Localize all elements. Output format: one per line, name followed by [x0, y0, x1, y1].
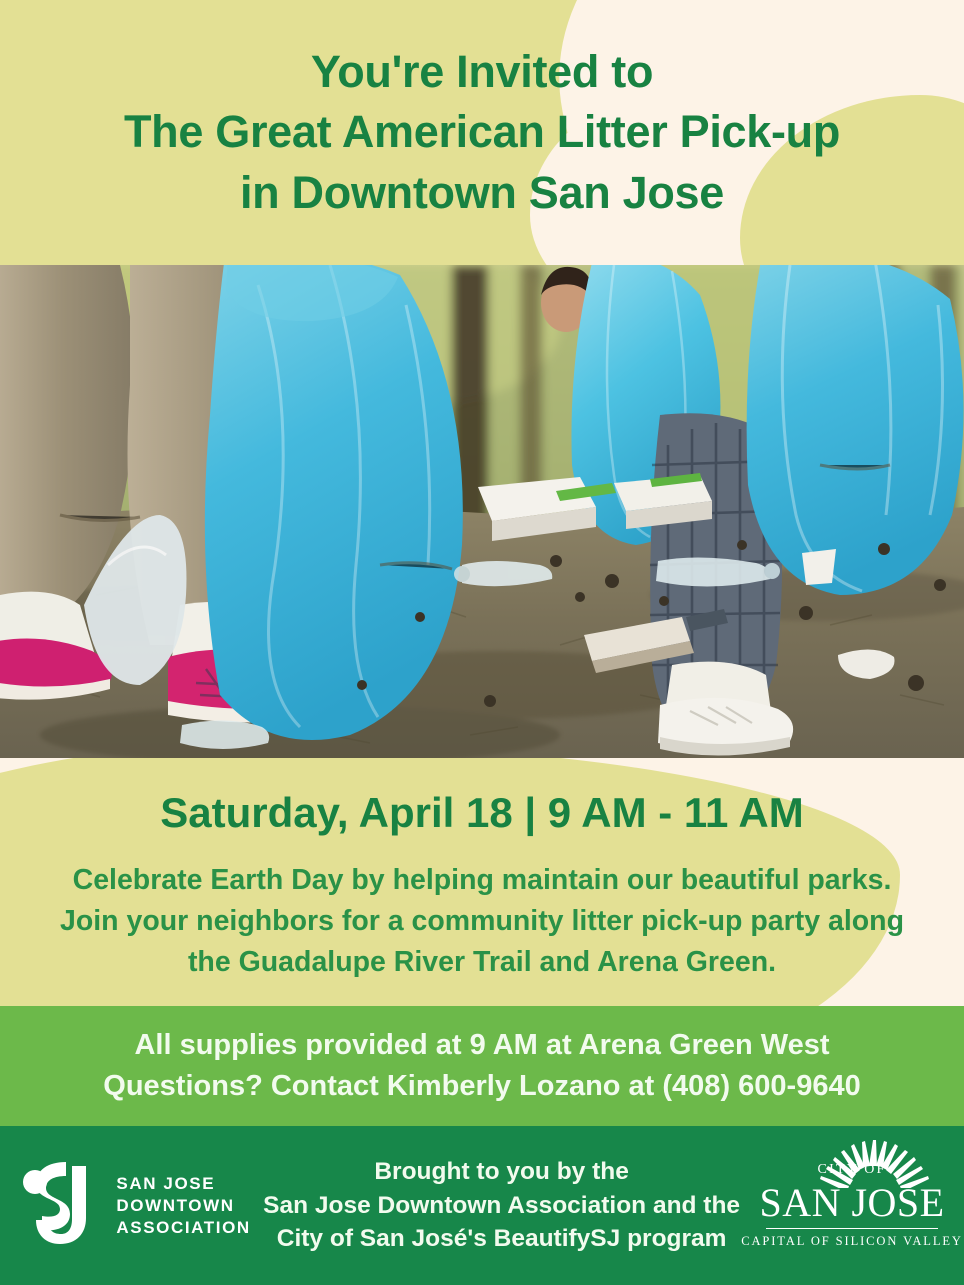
- city-logo-eyebrow: CITY OF: [818, 1162, 887, 1181]
- city-logo-rule: [766, 1228, 938, 1230]
- page-title: You're Invited to The Great American Lit…: [0, 0, 964, 265]
- event-flyer: You're Invited to The Great American Lit…: [0, 0, 964, 1285]
- event-details-section: Saturday, April 18 | 9 AM - 11 AM Celebr…: [0, 758, 964, 1006]
- supplies-contact-banner: All supplies provided at 9 AM at Arena G…: [0, 1006, 964, 1126]
- city-of-san-jose-logo: CITY OF SAN JOSE CAPITAL OF SILICON VALL…: [740, 1162, 964, 1250]
- sjda-wordmark-line-2: DOWNTOWN: [116, 1197, 250, 1214]
- hero-photo: [0, 265, 964, 758]
- contact-line[interactable]: Questions? Contact Kimberly Lozano at (4…: [103, 1066, 860, 1107]
- flyer-footer: SAN JOSE DOWNTOWN ASSOCIATION Brought to…: [0, 1126, 964, 1285]
- sjda-wordmark-line-1: SAN JOSE: [116, 1175, 250, 1192]
- sponsor-credit: Brought to you by the San Jose Downtown …: [263, 1155, 740, 1256]
- title-line-3: in Downtown San Jose: [240, 163, 724, 223]
- title-line-1: You're Invited to: [311, 42, 653, 102]
- sjda-logo: SAN JOSE DOWNTOWN ASSOCIATION: [0, 1160, 263, 1251]
- supplies-line: All supplies provided at 9 AM at Arena G…: [134, 1025, 829, 1066]
- credit-line-2: San Jose Downtown Association and the: [263, 1189, 740, 1223]
- event-date-time: Saturday, April 18 | 9 AM - 11 AM: [160, 790, 803, 836]
- sjda-wordmark: SAN JOSE DOWNTOWN ASSOCIATION: [116, 1175, 250, 1236]
- city-logo-name: SAN JOSE: [759, 1183, 944, 1223]
- event-description: Celebrate Earth Day by helping maintain …: [52, 860, 912, 983]
- sjda-monogram-icon: [22, 1160, 100, 1251]
- city-logo-tagline: CAPITAL OF SILICON VALLEY: [741, 1234, 963, 1249]
- credit-line-1: Brought to you by the: [374, 1155, 629, 1189]
- credit-line-3: City of San José's BeautifySJ program: [277, 1222, 727, 1256]
- title-line-2: The Great American Litter Pick-up: [124, 102, 840, 162]
- sjda-wordmark-line-3: ASSOCIATION: [116, 1219, 250, 1236]
- flyer-header: You're Invited to The Great American Lit…: [0, 0, 964, 265]
